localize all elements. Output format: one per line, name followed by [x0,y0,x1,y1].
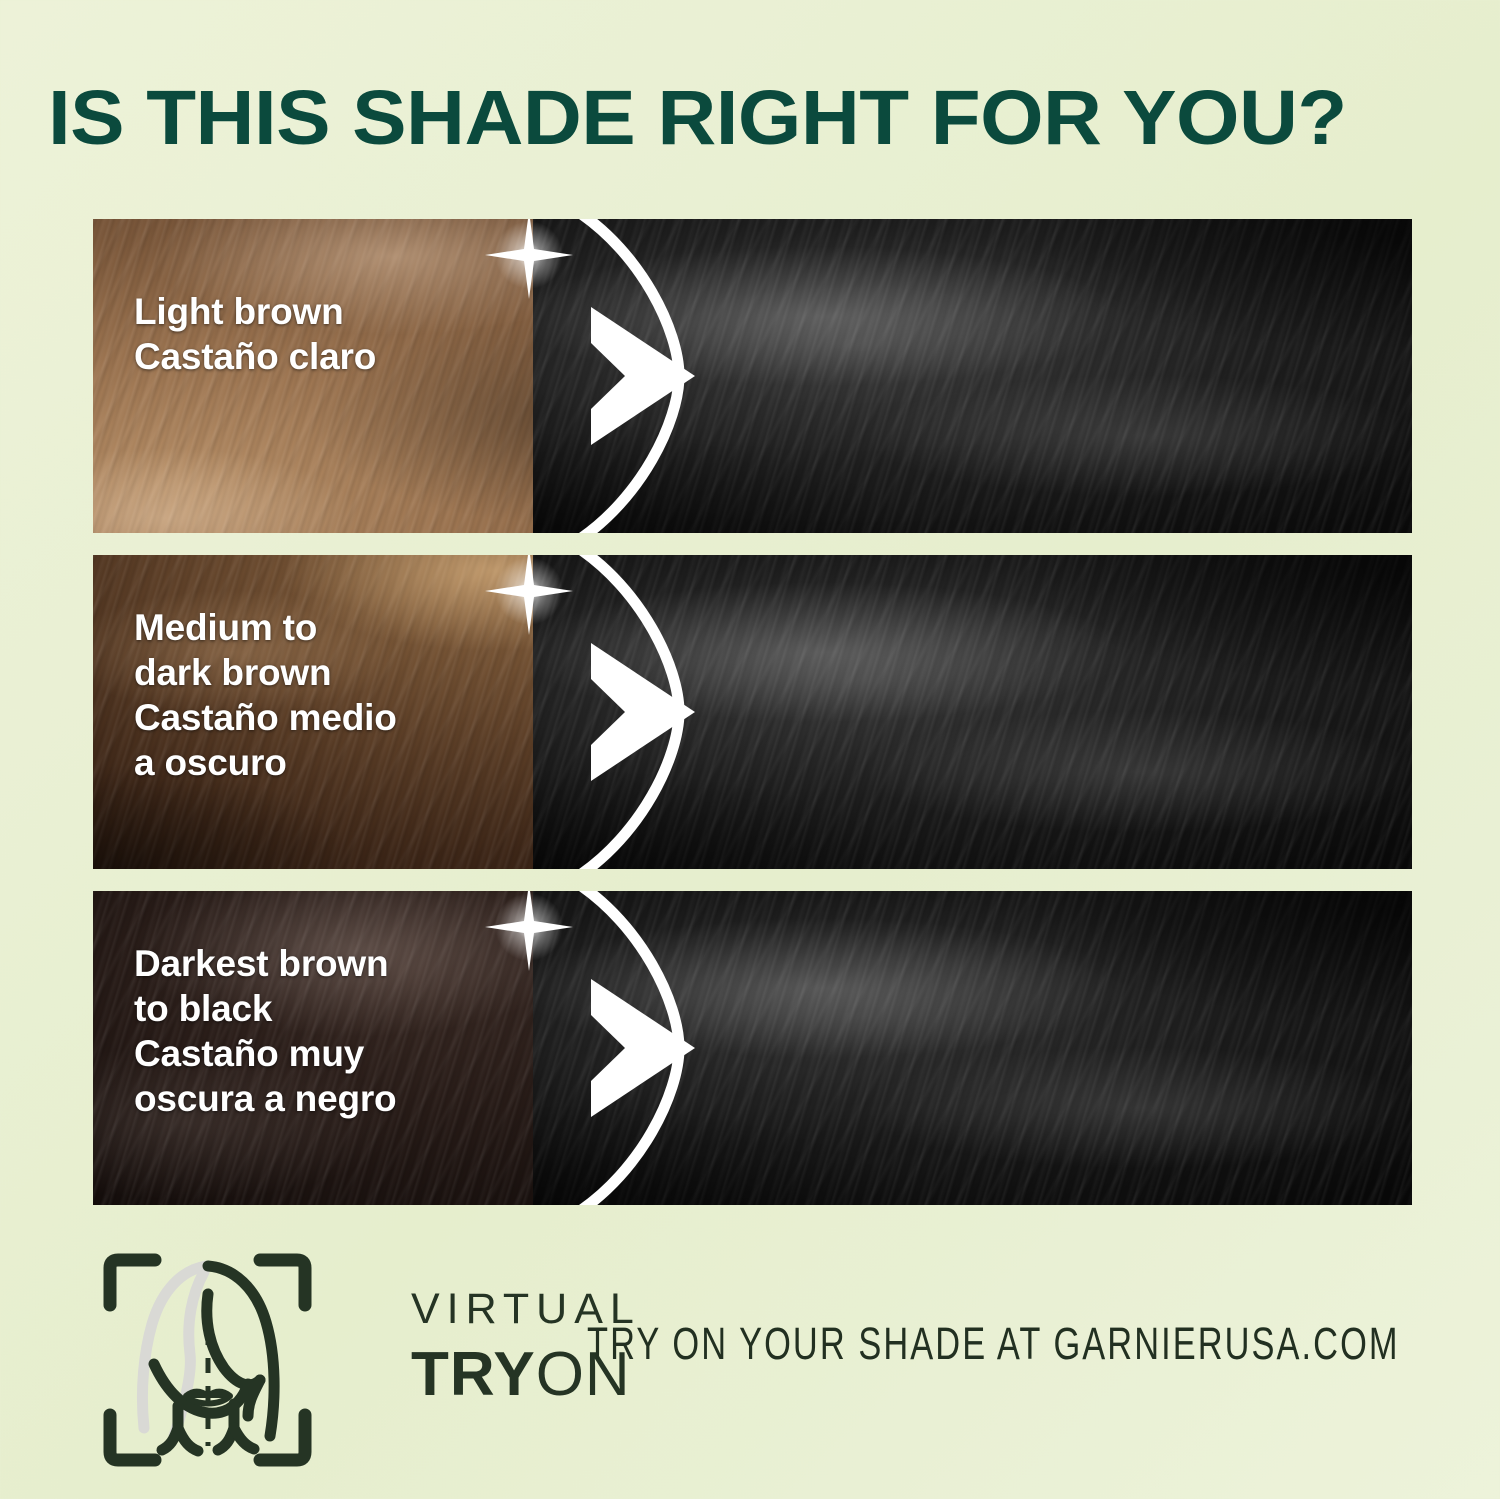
right-arrow-icon [591,979,695,1117]
shade-panel-medium-dark-brown[interactable]: Medium to dark brown Castaño medio a osc… [93,555,1412,869]
sparkle-icon [485,555,573,635]
bracket-top-left [110,1260,155,1305]
sparkle-icon [485,219,573,299]
wordmark-try: TRY [411,1340,536,1409]
cta-text: TRY ON YOUR SHADE AT GARNIERUSA.COM [587,1319,1400,1369]
shade-panel-label: Darkest brown to black Castaño muy oscur… [134,941,396,1121]
shade-panel-darkest-brown-to-black[interactable]: Darkest brown to black Castaño muy oscur… [93,891,1412,1205]
shade-panel-label: Medium to dark brown Castaño medio a osc… [134,605,397,785]
before-after-divider [473,891,753,1205]
before-after-divider [473,219,753,533]
virtual-try-on-face-scan-icon [100,1250,315,1470]
right-arrow-icon [591,307,695,445]
bracket-top-right [260,1260,305,1305]
shade-panel-list: Light brown Castaño claro [93,219,1412,1227]
shade-panel-light-brown[interactable]: Light brown Castaño claro [93,219,1412,533]
sparkle-icon [485,891,573,971]
shade-panel-label: Light brown Castaño claro [134,289,376,379]
before-after-divider [473,555,753,869]
right-arrow-icon [591,643,695,781]
page-title: IS THIS SHADE RIGHT FOR YOU? [48,78,1500,158]
